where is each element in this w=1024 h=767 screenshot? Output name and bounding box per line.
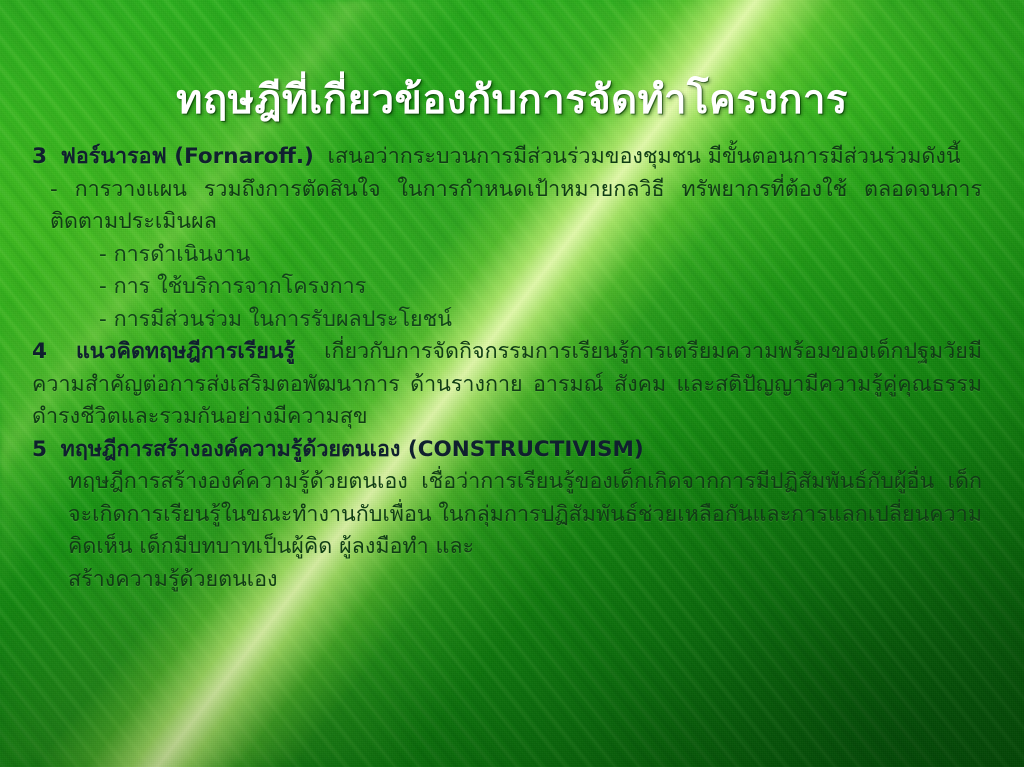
item-5-body: ทฤษฎีการสร้างองค์ความรู้ด้วยตนเอง เชื่อว…: [32, 466, 982, 564]
item-3-sub-bullet-2: - การ ใช้บริการจากโครงการ: [32, 271, 982, 304]
item-4-number: 4: [32, 339, 47, 364]
list-item-5: 5 ทฤษฎีการสร้างองค์ความรู้ด้วยตนเอง (CON…: [32, 434, 982, 467]
slide-content: ทฤษฎีที่เกี่ยวข้องกับการจัดทำโครงการ 3 ฟ…: [0, 0, 1024, 767]
item-3-heading: ฟอร์นารอฟ (Fornaroff.): [61, 144, 314, 169]
list-item-3: 3 ฟอร์นารอฟ (Fornaroff.) เสนอว่ากระบวนกา…: [32, 141, 982, 174]
item-5-body-last-line: สร้างความรู้ด้วยตนเอง: [32, 564, 982, 597]
item-3-sub-bullet-1: - การดำเนินงาน: [32, 239, 982, 272]
item-5-number: 5: [32, 437, 47, 462]
item-3-lead-text: เสนอว่ากระบวนการมีส่วนร่วมของชุมชน มีขั้…: [328, 144, 961, 169]
item-5-heading: ทฤษฎีการสร้างองค์ความรู้ด้วยตนเอง (CONST…: [61, 437, 644, 462]
slide-title: ทฤษฎีที่เกี่ยวข้องกับการจัดทำโครงการ: [0, 79, 1024, 121]
item-3-number: 3: [32, 144, 47, 169]
presentation-slide: ทฤษฎีที่เกี่ยวข้องกับการจัดทำโครงการ 3 ฟ…: [0, 0, 1024, 767]
slide-body: 3 ฟอร์นารอฟ (Fornaroff.) เสนอว่ากระบวนกา…: [32, 141, 982, 596]
item-3-sub-bullet-3: - การมีส่วนร่วม ในการรับผลประโยชน์: [32, 304, 982, 337]
list-item-4: 4 แนวคิดทฤษฎีการเรียนรู้ เกี่ยวกับการจัด…: [32, 336, 982, 434]
item-4-heading: แนวคิดทฤษฎีการเรียนรู้: [76, 339, 295, 364]
item-3-dash-paragraph: - การวางแผน รวมถึงการตัดสินใจ ในการกำหนด…: [32, 174, 982, 239]
